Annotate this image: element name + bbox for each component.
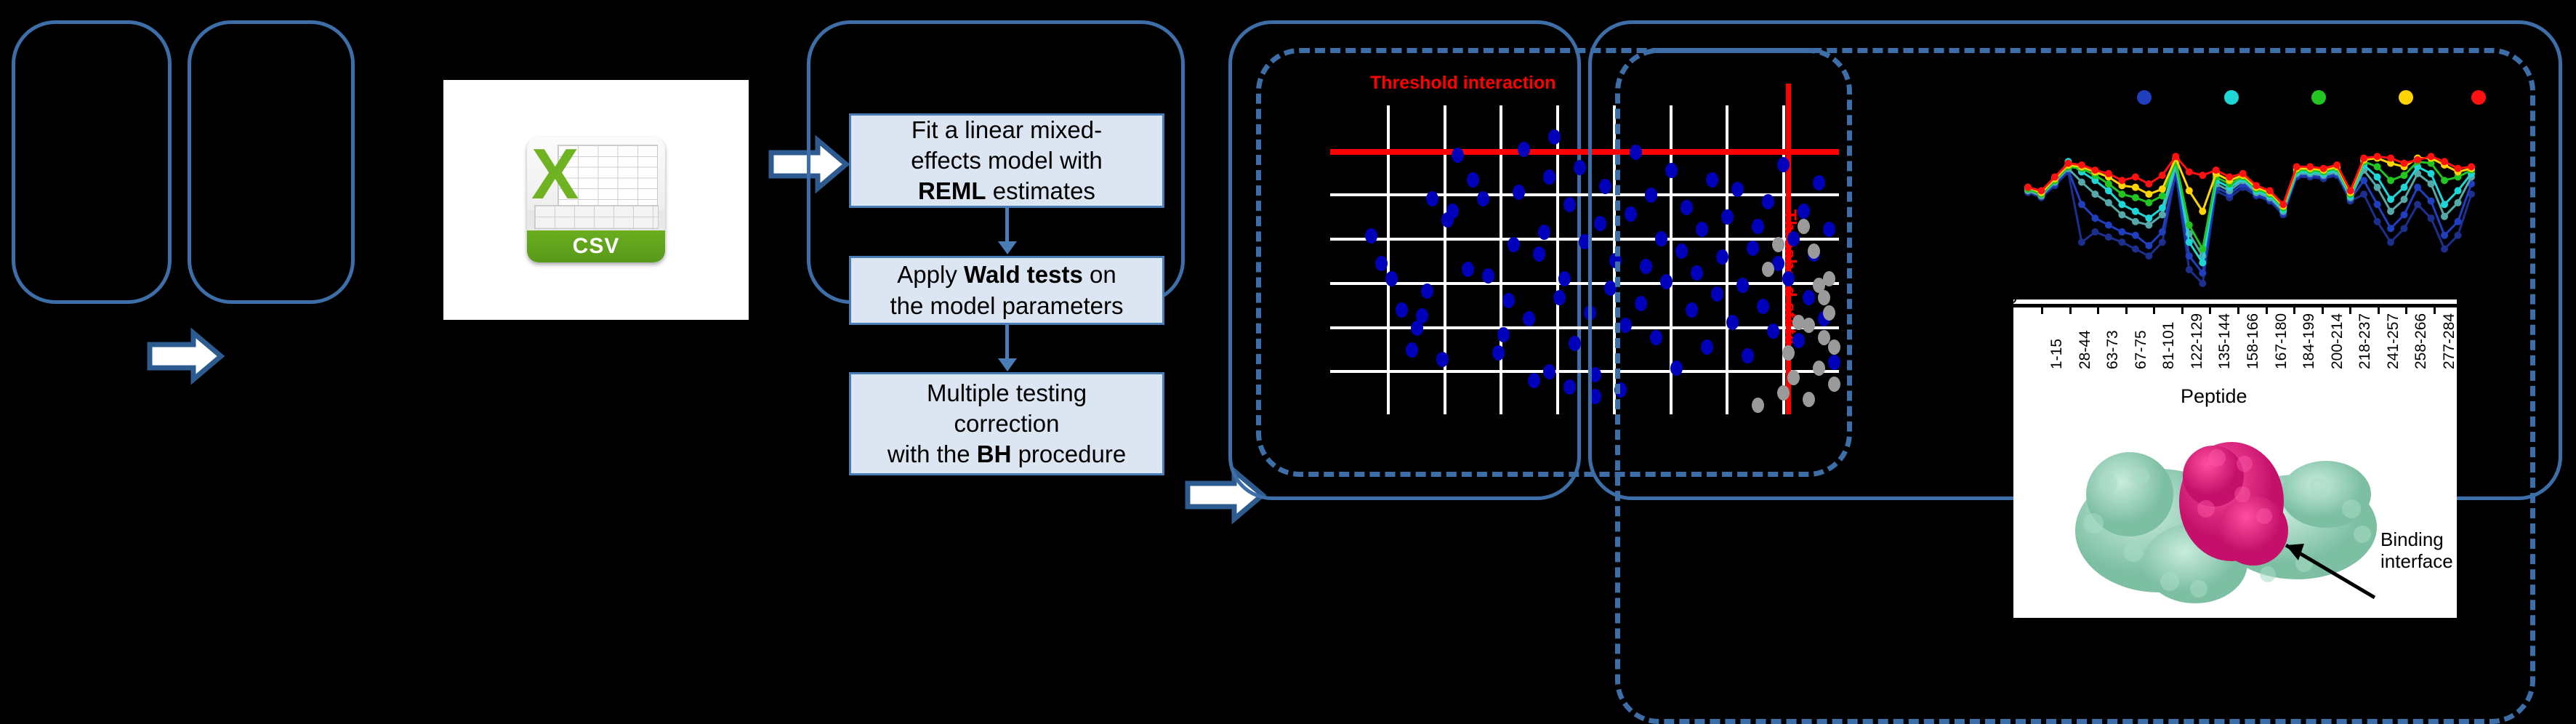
scatter-point-significant <box>1385 271 1398 286</box>
marker-series-navy <box>2132 246 2139 253</box>
marker-series-blue <box>2199 270 2206 277</box>
scatter-point-significant <box>1462 262 1474 277</box>
arrow-right-icon <box>145 327 225 385</box>
protein-surface-icon <box>2013 407 2457 618</box>
marker-series-red <box>2064 160 2072 167</box>
scatter-point-significant <box>1528 373 1540 388</box>
marker-series-red <box>2414 156 2421 164</box>
scatter-point-significant <box>1553 290 1566 305</box>
marker-series-green <box>2145 199 2152 206</box>
marker-series-red <box>2401 160 2408 167</box>
panel-csv <box>188 20 355 304</box>
marker-series-teal <box>2145 222 2152 229</box>
scatter-point-significant <box>1533 246 1545 262</box>
x-tick-label: 277-284 <box>2441 313 2457 369</box>
marker-series-red <box>2306 163 2314 170</box>
scatter-point-significant <box>1558 271 1571 286</box>
marker-series-navy <box>2145 252 2152 260</box>
excel-x-letter: X <box>531 140 579 208</box>
legend-dot-series-green <box>2311 90 2326 105</box>
marker-series-blue <box>2118 228 2125 236</box>
legend-dot-series-yellow <box>2399 90 2413 105</box>
marker-series-cyan <box>2186 238 2193 246</box>
x-tick <box>2237 304 2239 314</box>
y-axis-tick-label: 0.0 <box>1993 288 2017 308</box>
x-tick <box>2434 304 2436 314</box>
x-tick <box>2266 304 2268 314</box>
scatter-point-significant <box>1416 308 1428 323</box>
panel-empty <box>12 20 172 304</box>
marker-series-red <box>2091 166 2098 174</box>
marker-series-teal <box>2441 213 2448 220</box>
marker-series-navy <box>2118 238 2125 246</box>
marker-series-cyan <box>2428 170 2435 177</box>
marker-series-blue <box>2455 218 2462 225</box>
marker-series-red <box>2199 172 2206 179</box>
marker-series-cyan <box>2374 174 2381 181</box>
scatter-point-significant <box>1406 342 1418 358</box>
x-tick <box>2041 304 2043 314</box>
scatter-point-significant <box>1563 197 1576 212</box>
csv-file-icon: X CSV <box>527 137 665 262</box>
x-tick <box>2153 304 2155 314</box>
marker-series-red <box>2105 170 2112 177</box>
marker-series-green <box>2387 177 2394 184</box>
peptide-line-chart <box>2006 87 2486 305</box>
connector-2 <box>1005 325 1009 361</box>
marker-series-navy <box>2401 225 2408 232</box>
marker-series-green <box>2441 177 2448 184</box>
marker-series-green <box>2132 194 2139 201</box>
legend-dot-series-red <box>2471 90 2486 105</box>
x-tick <box>2181 304 2183 314</box>
marker-series-red <box>2145 180 2152 188</box>
marker-series-navy <box>2455 232 2462 239</box>
marker-series-red <box>2293 163 2301 170</box>
x-tick <box>2209 304 2211 314</box>
binding-interface-label: Bindinginterface <box>2380 529 2453 573</box>
marker-series-green <box>2186 222 2193 229</box>
marker-series-red <box>2118 177 2125 184</box>
marker-series-cyan <box>2441 201 2448 208</box>
marker-series-red <box>2132 174 2139 181</box>
marker-series-red <box>2468 163 2475 170</box>
marker-series-red <box>2186 168 2193 175</box>
x-tick <box>2405 304 2407 314</box>
marker-series-cyan <box>2401 184 2408 191</box>
step-wald-text: Apply Wald tests onthe model parameters <box>890 260 1124 321</box>
marker-series-navy <box>2374 218 2381 225</box>
csv-label: CSV <box>573 234 620 259</box>
x-tick-label: 200-214 <box>2329 313 2346 369</box>
scatter-point-significant <box>1508 237 1520 252</box>
marker-series-navy <box>2078 238 2085 246</box>
x-tick <box>2378 304 2380 314</box>
marker-series-blue <box>2132 232 2139 239</box>
marker-series-teal <box>2455 199 2462 206</box>
x-tick-label: 28-44 <box>2077 330 2094 369</box>
scatter-point-significant <box>1563 379 1576 395</box>
marker-series-teal <box>2374 184 2381 191</box>
scatter-point-significant <box>1518 142 1530 157</box>
marker-series-blue <box>2360 177 2367 184</box>
marker-series-red <box>2213 166 2220 174</box>
x-tick-label: 67-75 <box>2133 330 2150 369</box>
marker-series-cyan <box>2159 204 2166 212</box>
scatter-point-significant <box>1446 204 1459 219</box>
scatter-point-significant <box>1513 185 1525 200</box>
x-axis-title: Peptide <box>2181 385 2247 408</box>
marker-series-cyan <box>2455 187 2462 194</box>
scatter-point-significant <box>1523 311 1535 326</box>
scatter-point-significant <box>1492 345 1505 361</box>
marker-series-cyan <box>2132 208 2139 215</box>
marker-series-red <box>2279 201 2287 208</box>
marker-series-blue <box>2078 201 2085 208</box>
arrow-1 <box>145 327 225 385</box>
marker-series-yellow <box>2145 190 2152 198</box>
marker-series-blue <box>2441 232 2448 239</box>
marker-series-red <box>2387 155 2394 162</box>
marker-series-blue <box>2428 198 2435 205</box>
marker-series-yellow <box>2186 187 2193 194</box>
marker-series-red <box>2320 165 2327 172</box>
scatter-point-significant <box>1497 327 1510 342</box>
marker-series-blue <box>2414 184 2421 191</box>
marker-series-green <box>2105 180 2112 188</box>
csv-file-card: X CSV <box>443 80 749 320</box>
scatter-point-significant <box>1502 293 1515 308</box>
marker-series-teal <box>2401 196 2408 203</box>
marker-series-red <box>2360 155 2367 162</box>
marker-series-navy <box>2414 201 2421 208</box>
scatter-point-significant <box>1375 256 1388 271</box>
marker-series-red <box>2159 172 2166 179</box>
x-tick <box>2069 304 2072 314</box>
marker-series-red <box>2441 158 2448 165</box>
marker-series-red <box>2347 187 2354 194</box>
marker-series-red <box>2455 165 2462 172</box>
scatter-point-significant <box>1436 352 1449 367</box>
scatter-point-significant <box>1477 191 1489 206</box>
connector-1 <box>1005 208 1009 244</box>
marker-series-cyan <box>2105 187 2112 194</box>
marker-series-red <box>2051 174 2058 181</box>
threshold-interaction-label: Threshold interaction <box>1370 73 1556 94</box>
legend-dot-series-navy <box>2137 90 2152 105</box>
x-tick-label: 122-129 <box>2189 313 2206 369</box>
connector-2-arrowhead <box>998 358 1017 371</box>
peptide-line-series <box>2006 112 2486 299</box>
marker-series-cyan <box>2145 214 2152 222</box>
marker-series-navy <box>2387 238 2394 246</box>
marker-series-red <box>2024 184 2032 191</box>
step-reml-box: Fit a linear mixed-effects model withREM… <box>849 113 1164 208</box>
marker-series-green <box>2199 246 2206 253</box>
marker-series-green <box>2374 163 2381 170</box>
marker-series-navy <box>2091 228 2098 236</box>
marker-series-green <box>2159 192 2166 199</box>
step-wald-box: Apply Wald tests onthe model parameters <box>849 256 1164 325</box>
step-reml-text: Fit a linear mixed-effects model withREM… <box>911 115 1103 207</box>
marker-series-red <box>2374 153 2381 160</box>
step-bh-text: Multiple testingcorrectionwith the BH pr… <box>887 378 1126 470</box>
marker-series-red <box>2078 161 2085 169</box>
marker-series-red <box>2172 153 2179 160</box>
x-tick-label: 63-73 <box>2104 330 2122 369</box>
marker-series-blue <box>2105 222 2112 229</box>
scatter-point-significant <box>1574 160 1586 175</box>
scatter-point-significant <box>1543 364 1555 379</box>
x-tick <box>2322 304 2324 314</box>
marker-series-navy <box>2360 190 2367 198</box>
scatter-point-significant <box>1426 191 1438 206</box>
marker-series-teal <box>2105 199 2112 206</box>
marker-series-blue <box>2374 201 2381 208</box>
marker-series-blue <box>2186 252 2193 260</box>
marker-series-cyan <box>2118 201 2125 208</box>
x-tick <box>2293 304 2295 314</box>
marker-series-red <box>2428 153 2435 160</box>
marker-series-teal <box>2078 179 2085 186</box>
marker-series-blue <box>2387 225 2394 232</box>
scatter-point-significant <box>1543 169 1555 185</box>
marker-series-red <box>2226 174 2233 181</box>
marker-series-yellow <box>2132 184 2139 191</box>
peptide-axis-plate: 1-1528-4463-7367-7581-101122-129135-1441… <box>2013 299 2457 409</box>
marker-series-red <box>2037 187 2045 194</box>
step-bh-box: Multiple testingcorrectionwith the BH pr… <box>849 372 1164 475</box>
marker-series-cyan <box>2387 196 2394 203</box>
marker-series-yellow <box>2199 208 2206 215</box>
x-tick <box>2097 304 2099 314</box>
marker-series-red <box>2253 182 2260 189</box>
protein-structure-plate: Bindinginterface <box>2013 407 2457 618</box>
x-tick-label: 184-199 <box>2301 313 2318 369</box>
marker-series-navy <box>2199 280 2206 287</box>
marker-series-red <box>2266 187 2274 194</box>
x-tick-label: 218-237 <box>2356 313 2374 369</box>
x-tick <box>2125 304 2128 314</box>
marker-series-teal <box>2159 211 2166 218</box>
x-tick <box>2349 304 2351 314</box>
marker-series-teal <box>2091 190 2098 198</box>
scatter-point-significant <box>1452 148 1464 163</box>
x-tick-label: 1-15 <box>2048 339 2066 369</box>
marker-series-red <box>2239 170 2247 177</box>
marker-series-navy <box>2428 214 2435 222</box>
legend-dot-series-cyan <box>2224 90 2239 105</box>
csv-label-band: CSV <box>527 230 665 262</box>
scatter-point-significant <box>1365 228 1377 244</box>
marker-series-teal <box>2118 211 2125 218</box>
connector-1-arrowhead <box>998 241 1017 254</box>
x-tick-label: 241-257 <box>2385 313 2402 369</box>
marker-series-navy <box>2105 233 2112 241</box>
marker-series-navy <box>2441 246 2448 253</box>
marker-series-cyan <box>2199 260 2206 267</box>
scatter-point-significant <box>1396 302 1408 318</box>
marker-series-blue <box>2159 228 2166 236</box>
marker-series-green <box>2401 172 2408 179</box>
marker-series-red <box>2333 161 2340 169</box>
marker-series-blue <box>2401 211 2408 218</box>
marker-series-navy <box>2159 238 2166 246</box>
marker-series-teal <box>2387 208 2394 215</box>
marker-series-navy <box>2186 266 2193 273</box>
x-tick-label: 81-101 <box>2160 322 2178 369</box>
x-tick-label: 158-166 <box>2245 313 2262 369</box>
scatter-point-significant <box>1482 268 1494 283</box>
scatter-point-significant <box>1548 129 1561 145</box>
scatter-point-significant <box>1421 283 1433 299</box>
marker-series-blue <box>2091 214 2098 222</box>
scatter-point-significant <box>1467 172 1479 188</box>
marker-series-yellow <box>2159 185 2166 193</box>
scatter-point-significant <box>1569 336 1581 351</box>
marker-series-green <box>2118 190 2125 198</box>
x-tick-label: 258-266 <box>2412 313 2430 369</box>
x-tick-label: 135-144 <box>2216 313 2234 369</box>
marker-series-teal <box>2132 218 2139 225</box>
x-tick-label: 167-180 <box>2273 313 2290 369</box>
marker-series-blue <box>2145 242 2152 249</box>
